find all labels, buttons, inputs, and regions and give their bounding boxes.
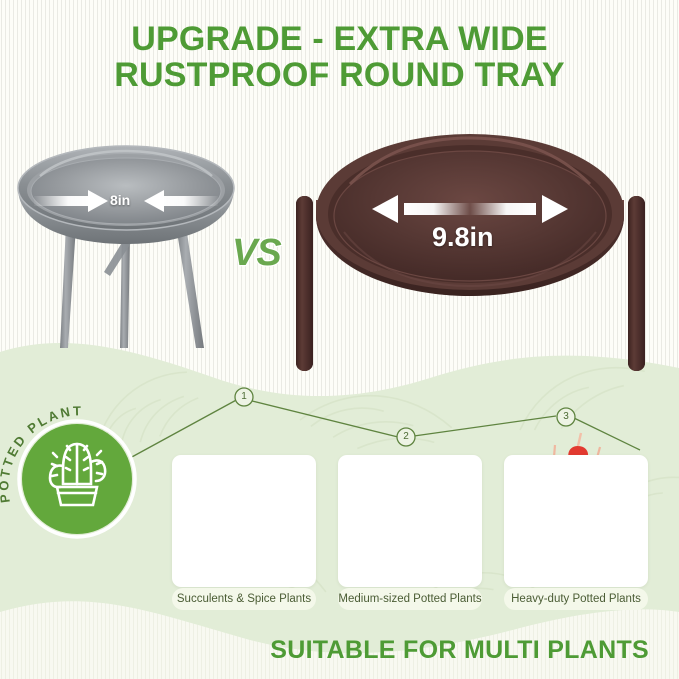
vs-label: VS [232,232,281,274]
connector-marker-1: 1 [236,389,252,405]
plant-card-3[interactable] [504,455,648,587]
plant-card-2[interactable] [338,455,482,587]
plant-card-3-label: Heavy-duty Potted Plants [504,588,648,610]
right-tray-dimension-label: 9.8in [432,222,494,253]
old-silver-tray-graphic [18,146,234,348]
page-title: UPGRADE - EXTRA WIDE RUSTPROOF ROUND TRA… [0,21,679,93]
left-tray-dimension-label: 8in [110,192,130,208]
plant-card-2-label: Medium-sized Potted Plants [338,588,482,610]
infographic-canvas: POTTED PLANT [0,0,679,679]
plant-card-1-label: Succulents & Spice Plants [172,588,316,610]
headline-line-2: RUSTPROOF ROUND TRAY [0,57,679,93]
connector-marker-3: 3 [558,409,574,425]
footer-tagline: SUITABLE FOR MULTI PLANTS [0,636,679,665]
headline-line-1: UPGRADE - EXTRA WIDE [131,20,547,58]
vs-badge: VS [232,232,281,275]
connector-marker-2: 2 [398,429,414,445]
plant-card-1[interactable] [172,455,316,587]
